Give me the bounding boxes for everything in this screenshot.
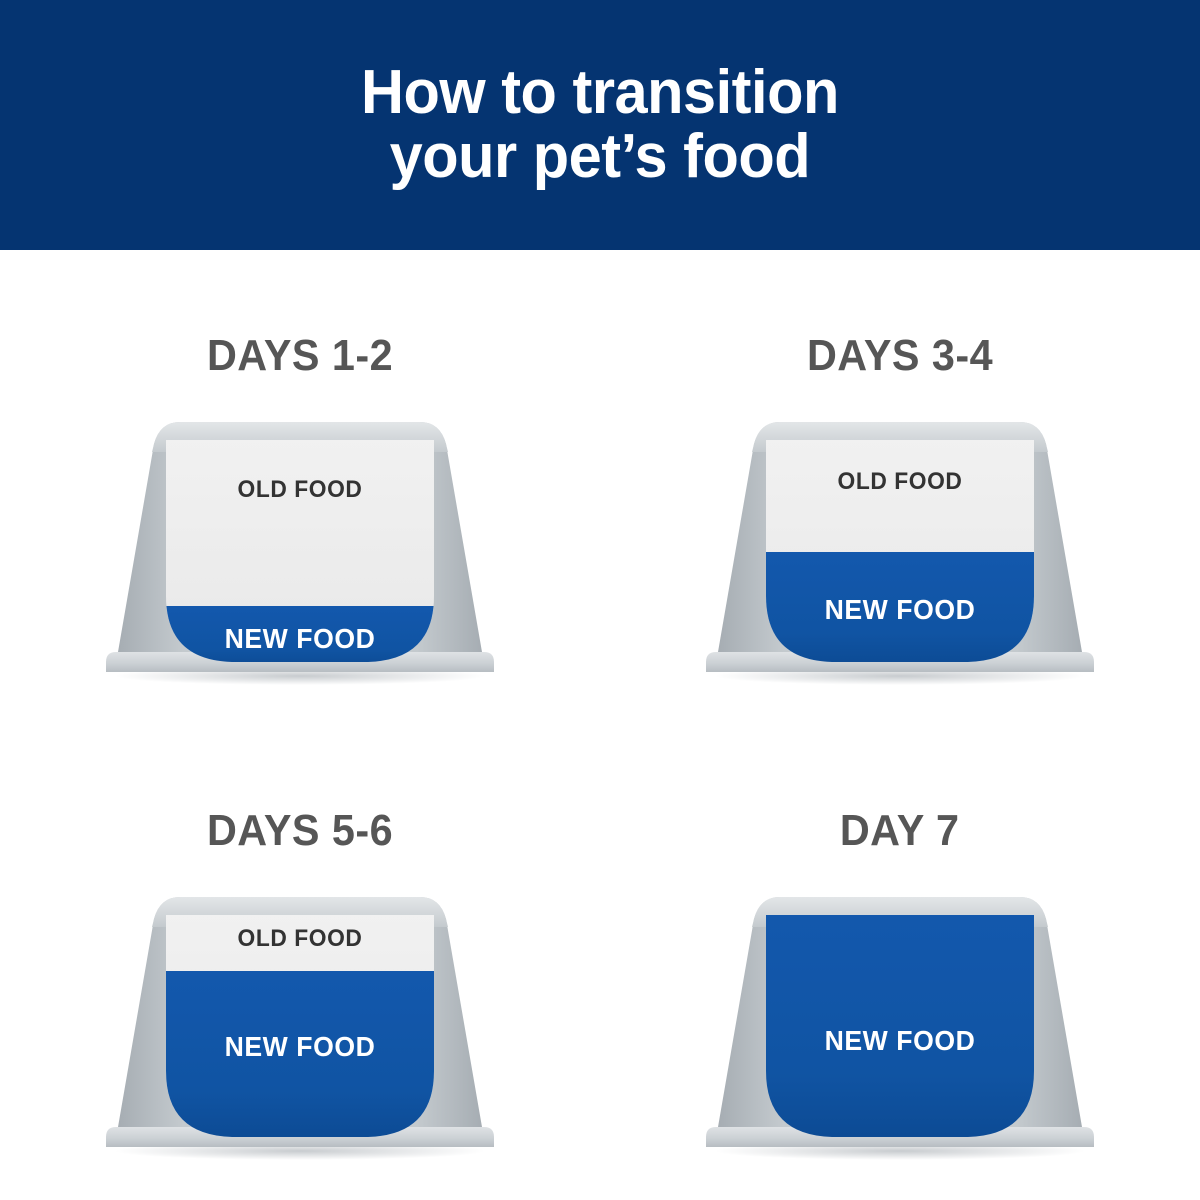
panel-label-days-3-4: DAYS 3-4	[807, 334, 993, 378]
infographic-page: How to transition your pet’s food DAYS 1…	[0, 0, 1200, 1200]
bowl-well	[160, 436, 440, 668]
bowl-well	[160, 911, 440, 1143]
panel-days-5-6: DAYS 5-6 OLD	[0, 725, 600, 1200]
panel-label-day-7: DAY 7	[840, 809, 960, 853]
bowl-illustration	[670, 400, 1130, 700]
new-food-fill	[160, 971, 440, 1143]
page-title-line-2: your pet’s food	[361, 125, 839, 189]
panel-days-1-2: DAYS 1-2	[0, 250, 600, 725]
panel-label-days-1-2: DAYS 1-2	[207, 334, 393, 378]
bowl-illustration	[670, 875, 1130, 1175]
header-band: How to transition your pet’s food	[0, 0, 1200, 250]
panel-days-3-4: DAYS 3-4 OLD	[600, 250, 1200, 725]
new-food-fill	[760, 911, 1040, 1143]
bowl-well	[760, 911, 1040, 1143]
transition-steps-grid: DAYS 1-2	[0, 250, 1200, 1200]
page-title-line-1: How to transition	[361, 61, 839, 125]
bowl-days-3-4: OLD FOOD NEW FOOD	[670, 400, 1130, 700]
new-food-fill	[760, 552, 1040, 668]
bowl-day-7: NEW FOOD	[670, 875, 1130, 1175]
bowl-days-1-2: OLD FOOD NEW FOOD	[70, 400, 530, 700]
bowl-well	[760, 436, 1040, 668]
panel-label-days-5-6: DAYS 5-6	[207, 809, 393, 853]
page-title: How to transition your pet’s food	[361, 61, 839, 190]
bowl-illustration	[70, 875, 530, 1175]
bowl-days-5-6: OLD FOOD NEW FOOD	[70, 875, 530, 1175]
panel-day-7: DAY 7 NEW FOOD	[600, 725, 1200, 1200]
bowl-illustration	[70, 400, 530, 700]
